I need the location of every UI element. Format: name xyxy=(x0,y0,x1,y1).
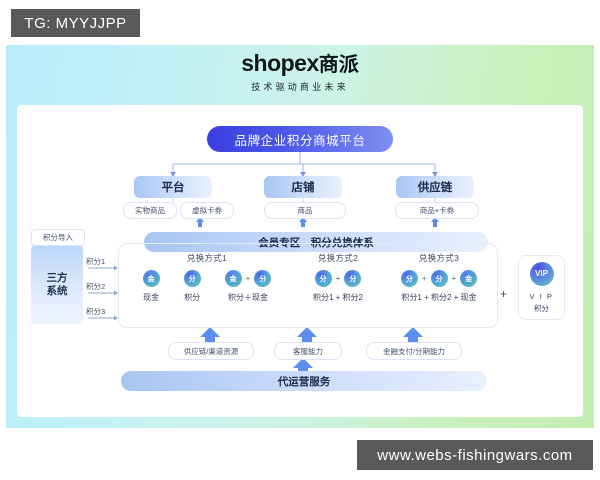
logo-text: shope xyxy=(241,50,306,76)
method-item-points-label: 积分 xyxy=(184,292,200,303)
points-coin-icon: 分 xyxy=(254,270,271,287)
tag-physical-goods: 实物商品 xyxy=(123,202,177,219)
vip-label-line2: 积分 xyxy=(534,303,549,314)
method-2-items: 分 + 分 积分1 + 积分2 xyxy=(280,270,396,303)
method-item-points-cash: 金 + 分 积分＋现金 xyxy=(225,270,272,303)
exchange-method-2: 兑换方式2 分 + 分 积分1 + 积分2 xyxy=(280,252,396,303)
plus-sign: + xyxy=(245,274,252,283)
method-item-cash-label: 现金 xyxy=(143,292,159,303)
plus-sign: + xyxy=(421,274,428,283)
diagram-title: 品牌企业积分商城平台 xyxy=(207,126,393,152)
points-coin-icon: 分 xyxy=(344,270,361,287)
arrow-label-points1: 积分1 xyxy=(86,256,105,267)
tag-goods-voucher: 商品+卡券 xyxy=(395,202,479,219)
logo-chinese: 商派 xyxy=(319,54,359,76)
method-2-title: 兑换方式2 xyxy=(280,252,396,264)
vip-badge-icon: VIP xyxy=(530,262,554,286)
brand-logo: shopex商派 技术驱动商业未来 xyxy=(0,52,600,93)
tag-virtual-voucher: 虚拟卡券 xyxy=(180,202,234,219)
method-item-points1-points2-cash-label: 积分1 + 积分2 + 现金 xyxy=(401,292,476,303)
points-coin-icon: 分 xyxy=(315,270,332,287)
cash-coin-icon: 金 xyxy=(460,270,477,287)
capability-supply-chain: 供应链/渠道资源 xyxy=(168,342,254,360)
method-item-points1-points2-label: 积分1 + 积分2 xyxy=(313,292,363,303)
operations-service-bar: 代运营服务 xyxy=(121,371,487,391)
points-coin-icon: 分 xyxy=(431,270,448,287)
capability-finance-payment: 金融支付/分期能力 xyxy=(366,342,462,360)
exchange-method-3: 兑换方式3 分 + 分 + 金 积分1 + 积分2 + 现金 xyxy=(380,252,498,303)
plus-sign: + xyxy=(451,274,458,283)
points-coin-icon: 分 xyxy=(401,270,418,287)
logo-wordmark: shopex商派 xyxy=(0,52,600,75)
logo-x-icon: x xyxy=(306,50,318,76)
method-3-title: 兑换方式3 xyxy=(380,252,498,264)
vip-label-line1: V I P xyxy=(530,292,554,301)
watermark-top-left: TG: MYYJJPP xyxy=(11,9,140,37)
third-party-line1: 三方 xyxy=(47,272,68,285)
watermark-bottom-right: www.webs-fishingwars.com xyxy=(357,440,593,470)
node-supply-chain[interactable]: 供应链 xyxy=(396,176,474,198)
points-coin-icon: 分 xyxy=(184,270,201,287)
logo-tagline: 技术驱动商业未来 xyxy=(0,80,600,93)
method-3-items: 分 + 分 + 金 积分1 + 积分2 + 现金 xyxy=(380,270,498,303)
method-item-points-cash-label: 积分＋现金 xyxy=(228,292,268,303)
exchange-method-1: 兑换方式1 金 现金 分 积分 金 + 分 积分＋现金 xyxy=(128,252,286,303)
method-item-cash: 金 现金 xyxy=(143,270,160,303)
method-item-points1-points2-cash: 分 + 分 + 金 积分1 + 积分2 + 现金 xyxy=(401,270,477,303)
cash-coin-icon: 金 xyxy=(225,270,242,287)
cash-coin-icon: 金 xyxy=(143,270,160,287)
tag-goods: 商品 xyxy=(264,202,346,219)
plus-sign: + xyxy=(335,274,342,283)
arrow-label-points3: 积分3 xyxy=(86,306,105,317)
vip-points-card[interactable]: VIP V I P 积分 xyxy=(518,255,565,320)
node-shop[interactable]: 店铺 xyxy=(264,176,342,198)
method-item-points1-points2: 分 + 分 积分1 + 积分2 xyxy=(313,270,363,303)
vip-plus-sign: + xyxy=(500,287,507,301)
method-1-items: 金 现金 分 积分 金 + 分 积分＋现金 xyxy=(128,270,286,303)
method-item-points: 分 积分 xyxy=(184,270,201,303)
points-import-label: 积分导入 xyxy=(31,229,85,246)
arrow-label-points2: 积分2 xyxy=(86,281,105,292)
third-party-system-box[interactable]: 三方 系统 xyxy=(31,246,83,324)
third-party-line2: 系统 xyxy=(47,285,68,298)
capability-customer-service: 客服能力 xyxy=(274,342,342,360)
method-1-title: 兑换方式1 xyxy=(128,252,286,264)
node-platform[interactable]: 平台 xyxy=(134,176,212,198)
